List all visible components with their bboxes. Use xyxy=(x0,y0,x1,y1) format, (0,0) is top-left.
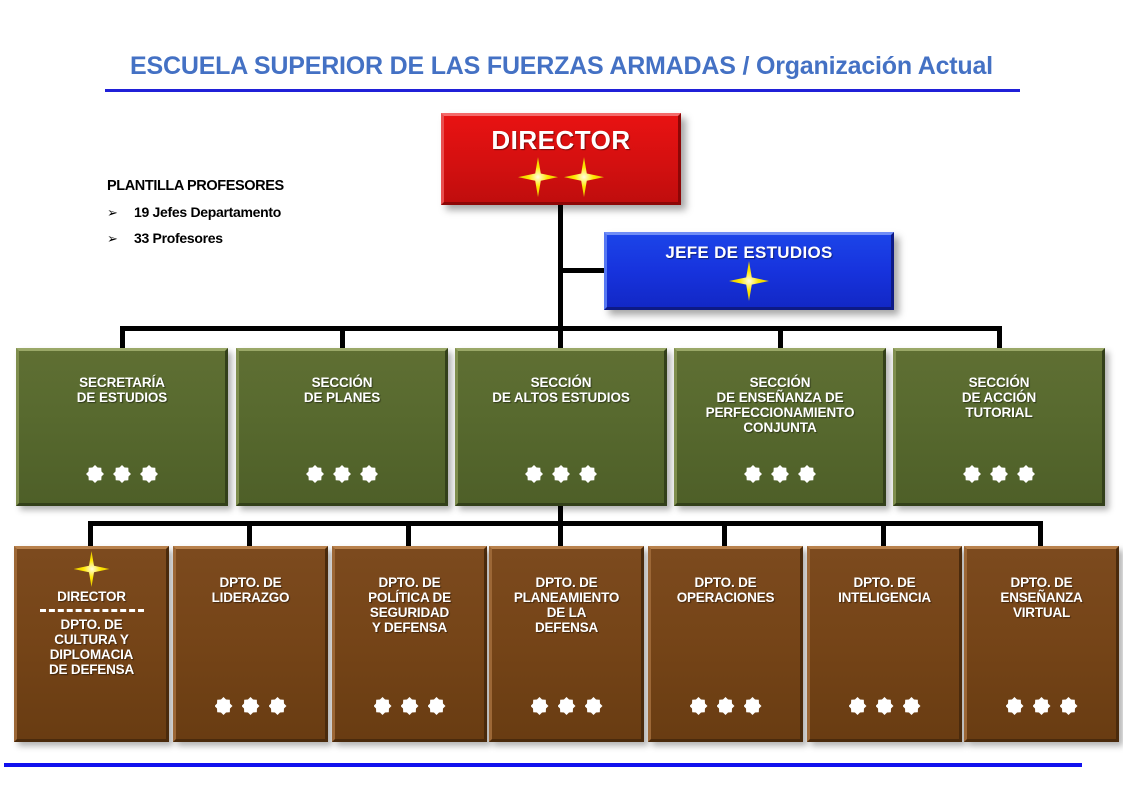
connector-director-to-chief xyxy=(558,268,606,273)
node-section-label: SECCIÓN DE ENSEÑANZA DE PERFECCIONAMIENT… xyxy=(706,375,855,435)
eight-point-star-icon xyxy=(744,465,762,483)
node-department-operaciones[interactable]: DPTO. DE OPERACIONES xyxy=(648,546,803,742)
node-department-label: DPTO. DE ENSEÑANZA VIRTUAL xyxy=(1000,575,1082,620)
eight-point-star-icon xyxy=(585,697,603,715)
eight-point-star-icon xyxy=(113,465,131,483)
department-star-row xyxy=(651,697,800,715)
title-underline-rule xyxy=(105,89,1020,92)
connector-drop-department-1 xyxy=(88,521,93,548)
node-department-label: DPTO. DE POLÍTICA DE SEGURIDAD Y DEFENSA xyxy=(368,575,451,635)
eight-point-star-icon xyxy=(579,465,597,483)
eight-point-star-icon xyxy=(1060,697,1078,715)
four-point-star-icon xyxy=(74,551,110,587)
node-section-de-planes[interactable]: SECCIÓN DE PLANES xyxy=(236,348,448,506)
eight-point-star-icon xyxy=(798,465,816,483)
eight-point-star-icon xyxy=(306,465,324,483)
four-point-star-icon xyxy=(518,157,558,197)
staff-item-label: 33 Profesores xyxy=(134,230,223,246)
eight-point-star-icon xyxy=(140,465,158,483)
department-director-rank-insignia xyxy=(74,551,110,587)
department-star-row xyxy=(176,697,325,715)
node-section-de-altos-estudios[interactable]: SECCIÓN DE ALTOS ESTUDIOS xyxy=(455,348,667,506)
eight-point-star-icon xyxy=(401,697,419,715)
node-chief-of-studies-label: JEFE DE ESTUDIOS xyxy=(665,243,832,262)
arrow-bullet-icon: ➢ xyxy=(107,231,134,247)
node-department-role: DIRECTOR xyxy=(57,589,126,604)
connector-departments-bus xyxy=(88,521,1040,526)
eight-point-star-icon xyxy=(558,697,576,715)
node-department-label: DPTO. DE LIDERAZGO xyxy=(212,575,290,605)
node-department-inteligencia[interactable]: DPTO. DE INTELIGENCIA xyxy=(807,546,962,742)
eight-point-star-icon xyxy=(525,465,543,483)
eight-point-star-icon xyxy=(717,697,735,715)
staff-list-item: ➢ 19 Jefes Departamento xyxy=(107,204,407,221)
arrow-bullet-icon: ➢ xyxy=(107,205,134,221)
eight-point-star-icon xyxy=(963,465,981,483)
eight-point-star-icon xyxy=(428,697,446,715)
department-star-row xyxy=(492,697,641,715)
eight-point-star-icon xyxy=(876,697,894,715)
node-department-cultura-y-diplomacia[interactable]: DIRECTOR DPTO. DE CULTURA Y DIPLOMACIA D… xyxy=(14,546,169,742)
connector-drop-section-3 xyxy=(558,326,563,350)
node-director[interactable]: DIRECTOR xyxy=(441,113,681,205)
node-department-ensenanza-virtual[interactable]: DPTO. DE ENSEÑANZA VIRTUAL xyxy=(964,546,1119,742)
eight-point-star-icon xyxy=(1033,697,1051,715)
node-section-label: SECCIÓN DE PLANES xyxy=(304,375,380,405)
department-star-row xyxy=(810,697,959,715)
department-star-row xyxy=(967,697,1116,715)
eight-point-star-icon xyxy=(360,465,378,483)
four-point-star-icon xyxy=(729,261,769,301)
node-chief-of-studies[interactable]: JEFE DE ESTUDIOS xyxy=(604,232,894,310)
connector-drop-department-5 xyxy=(722,521,727,548)
director-rank-insignia xyxy=(518,157,604,197)
eight-point-star-icon xyxy=(531,697,549,715)
node-section-label: SECCIÓN DE ALTOS ESTUDIOS xyxy=(492,375,630,405)
eight-point-star-icon xyxy=(744,697,762,715)
eight-point-star-icon xyxy=(903,697,921,715)
node-section-de-accion-tutorial[interactable]: SECCIÓN DE ACCIÓN TUTORIAL xyxy=(893,348,1105,506)
eight-point-star-icon xyxy=(849,697,867,715)
node-department-liderazgo[interactable]: DPTO. DE LIDERAZGO xyxy=(173,546,328,742)
eight-point-star-icon xyxy=(86,465,104,483)
staff-item-label: 19 Jefes Departamento xyxy=(134,204,281,220)
eight-point-star-icon xyxy=(990,465,1008,483)
eight-point-star-icon xyxy=(374,697,392,715)
staff-heading: PLANTILLA PROFESORES xyxy=(107,178,407,194)
node-section-label: SECRETARÍA DE ESTUDIOS xyxy=(77,375,167,405)
four-point-star-icon xyxy=(564,157,604,197)
page-title: ESCUELA SUPERIOR DE LAS FUERZAS ARMADAS … xyxy=(0,52,1123,81)
staff-summary-block: PLANTILLA PROFESORES ➢ 19 Jefes Departam… xyxy=(107,178,407,256)
eight-point-star-icon xyxy=(215,697,233,715)
connector-drop-department-3 xyxy=(406,521,411,548)
node-department-label: DPTO. DE CULTURA Y DIPLOMACIA DE DEFENSA xyxy=(49,617,134,677)
section-star-row xyxy=(896,465,1102,483)
node-director-label: DIRECTOR xyxy=(491,126,630,155)
eight-point-star-icon xyxy=(1006,697,1024,715)
connector-drop-section-4 xyxy=(778,326,783,350)
connector-drop-department-6 xyxy=(881,521,886,548)
eight-point-star-icon xyxy=(333,465,351,483)
department-divider xyxy=(40,609,144,612)
node-department-label: DPTO. DE OPERACIONES xyxy=(677,575,775,605)
department-star-row xyxy=(335,697,484,715)
node-section-ensenanza-perfeccionamiento[interactable]: SECCIÓN DE ENSEÑANZA DE PERFECCIONAMIENT… xyxy=(674,348,886,506)
chief-rank-insignia xyxy=(729,261,769,301)
connector-drop-section-1 xyxy=(120,326,125,350)
connector-drop-section-2 xyxy=(340,326,345,350)
connector-drop-department-7 xyxy=(1038,521,1043,548)
node-department-planeamiento-defensa[interactable]: DPTO. DE PLANEAMIENTO DE LA DEFENSA xyxy=(489,546,644,742)
connector-drop-department-4 xyxy=(558,521,563,548)
eight-point-star-icon xyxy=(771,465,789,483)
connector-drop-department-2 xyxy=(247,521,252,548)
node-section-label: SECCIÓN DE ACCIÓN TUTORIAL xyxy=(962,375,1036,420)
section-star-row xyxy=(19,465,225,483)
section-star-row xyxy=(458,465,664,483)
staff-list-item: ➢ 33 Profesores xyxy=(107,230,407,247)
section-star-row xyxy=(677,465,883,483)
eight-point-star-icon xyxy=(269,697,287,715)
node-department-politica-seguridad-defensa[interactable]: DPTO. DE POLÍTICA DE SEGURIDAD Y DEFENSA xyxy=(332,546,487,742)
connector-drop-section-5 xyxy=(997,326,1002,350)
eight-point-star-icon xyxy=(242,697,260,715)
eight-point-star-icon xyxy=(690,697,708,715)
footer-rule xyxy=(4,763,1082,767)
section-star-row xyxy=(239,465,445,483)
node-section-secretaria-de-estudios[interactable]: SECRETARÍA DE ESTUDIOS xyxy=(16,348,228,506)
node-department-label: DPTO. DE INTELIGENCIA xyxy=(838,575,931,605)
node-department-label: DPTO. DE PLANEAMIENTO DE LA DEFENSA xyxy=(514,575,619,635)
eight-point-star-icon xyxy=(552,465,570,483)
eight-point-star-icon xyxy=(1017,465,1035,483)
